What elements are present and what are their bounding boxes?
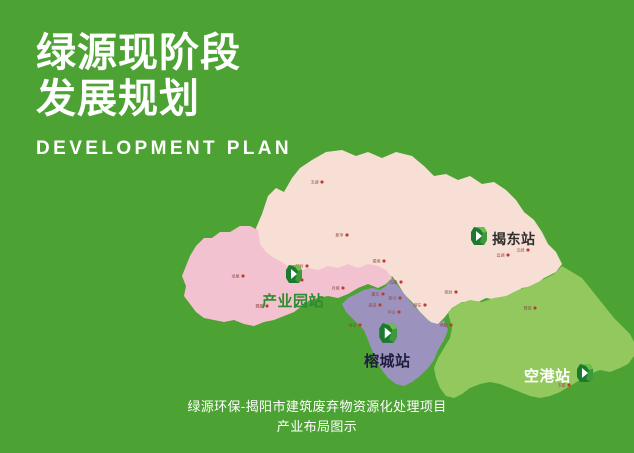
lvyuan-logo-icon [470,226,487,251]
station-marker-rongcheng[interactable]: 榕城站 [364,322,411,371]
station-label-chanyeyuan: 产业园站 [262,290,324,311]
station-label-rongcheng: 榕城站 [364,350,411,371]
town-label: 榕东 [414,303,422,308]
town-dot-icon [400,281,403,284]
station-marker-jiedong[interactable]: 揭东站 [470,226,536,251]
town-dot-icon [359,324,362,327]
town-dot-icon [534,307,537,310]
town-dot-icon [346,234,349,237]
town-dot-icon [398,311,401,314]
town-label: 新兴 [389,296,397,301]
town-marker: 锡场 [373,259,386,264]
town-dot-icon [455,291,458,294]
lvyuan-logo-icon [285,264,302,289]
town-dot-icon [382,293,385,296]
town-dot-icon [399,297,402,300]
town-label: 梅云 [349,323,357,328]
town-label: 玉湖 [311,180,319,185]
town-label: 月城 [332,286,340,291]
town-marker: 云湖 [497,253,510,258]
station-marker-konggang[interactable]: 空港站 [524,363,593,388]
town-dot-icon [383,260,386,263]
town-label: 锡场 [373,259,381,264]
town-dot-icon [424,304,427,307]
town-marker: 玉湖 [311,180,324,185]
town-label: 曲溪 [369,303,377,308]
town-label: 地都 [440,323,448,328]
town-label: 磐东 [372,292,380,297]
town-dot-icon [507,254,510,257]
town-dot-icon [342,287,345,290]
town-marker: 新亨 [336,233,349,238]
station-label-jiedong: 揭东站 [492,229,536,249]
town-label: 新亨 [336,233,344,238]
town-dot-icon [242,275,245,278]
town-dot-icon [450,324,453,327]
town-marker: 炮台 [445,290,458,295]
town-marker: 地都 [440,323,453,328]
caption-line-2: 产业布局图示 [0,417,634,437]
caption-block: 绿源环保-揭阳市建筑废弃物资源化处理项目 产业布局图示 [0,397,634,437]
town-marker: 曲溪 [369,303,382,308]
town-label: 登岗 [524,306,532,311]
town-marker: 榕东 [414,303,427,308]
station-label-konggang: 空港站 [524,365,571,386]
town-marker: 登岗 [524,306,537,311]
station-marker-chanyeyuan[interactable]: 产业园站 [262,264,324,311]
town-marker: 磐东 [372,292,385,297]
poster-canvas: 绿源现阶段 发展规划 DEVELOPMENT PLAN 玉湖新亨锡场桂岭龙尾白塔… [0,0,634,453]
lvyuan-logo-icon [378,322,397,349]
town-marker: 梅云 [349,323,362,328]
page-title-line-2: 发展规划 [36,76,416,122]
town-label: 中山 [388,310,396,315]
town-label: 龙尾 [232,274,240,279]
town-label: 云路 [390,280,398,285]
lvyuan-logo-icon [576,363,593,388]
page-subtitle: DEVELOPMENT PLAN [36,138,416,160]
town-dot-icon [321,181,324,184]
town-label: 云湖 [497,253,505,258]
headline-block: 绿源现阶段 发展规划 DEVELOPMENT PLAN [36,30,416,160]
town-label: 炮台 [445,290,453,295]
caption-line-1: 绿源环保-揭阳市建筑废弃物资源化处理项目 [0,397,634,417]
town-marker: 龙尾 [232,274,245,279]
town-marker: 新兴 [389,296,402,301]
page-title-line-1: 绿源现阶段 [36,30,416,76]
town-marker: 月城 [332,286,345,291]
town-dot-icon [379,304,382,307]
town-marker: 中山 [388,310,401,315]
town-marker: 云路 [390,280,403,285]
